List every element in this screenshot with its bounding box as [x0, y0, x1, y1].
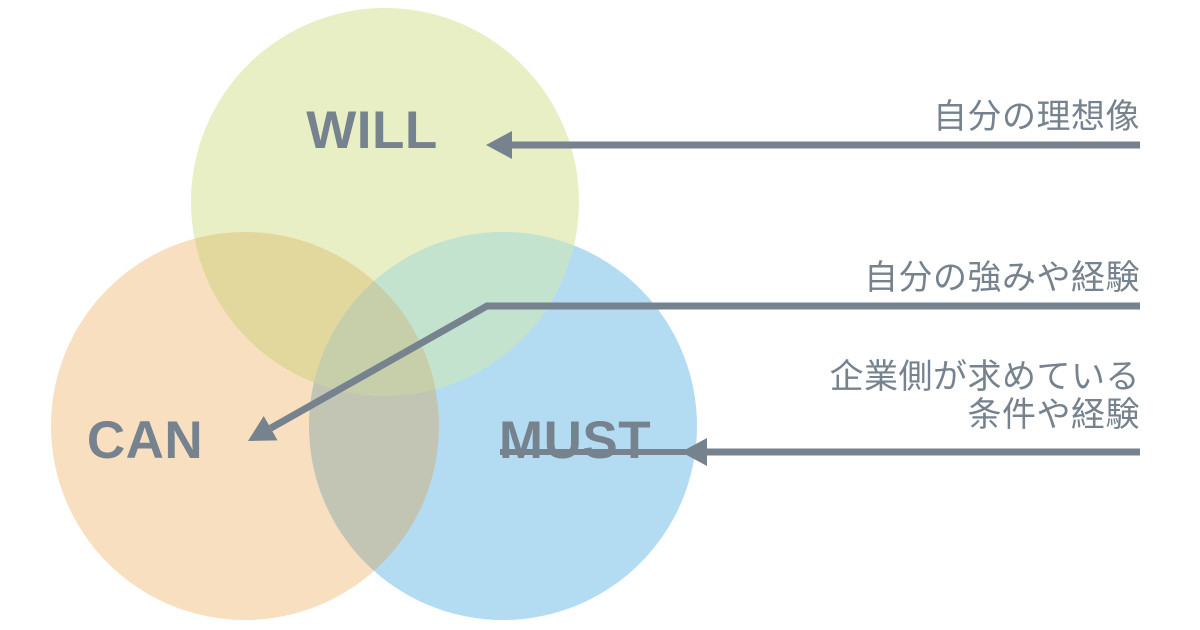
annotation-rule-must — [500, 449, 1140, 455]
annotation-text-must: 企業側が求めている 条件や経験 — [830, 358, 1141, 434]
venn-label-will: WILL — [306, 101, 438, 160]
annotation-text-can: 自分の強みや経験 — [864, 259, 1140, 297]
venn-diagram-canvas: WILL CAN MUST 自分の理想像 自分の強みや経験 企業側が求めている … — [0, 0, 1200, 630]
annotation-text-will: 自分の理想像 — [933, 98, 1140, 136]
annotation-rule-will — [500, 142, 1140, 148]
venn-label-must: MUST — [499, 411, 651, 470]
venn-circles — [51, 8, 697, 620]
annotation-rule-can — [500, 303, 1140, 309]
venn-label-can: CAN — [87, 411, 203, 470]
venn-diagram-graphic: WILL CAN MUST — [0, 0, 1200, 630]
